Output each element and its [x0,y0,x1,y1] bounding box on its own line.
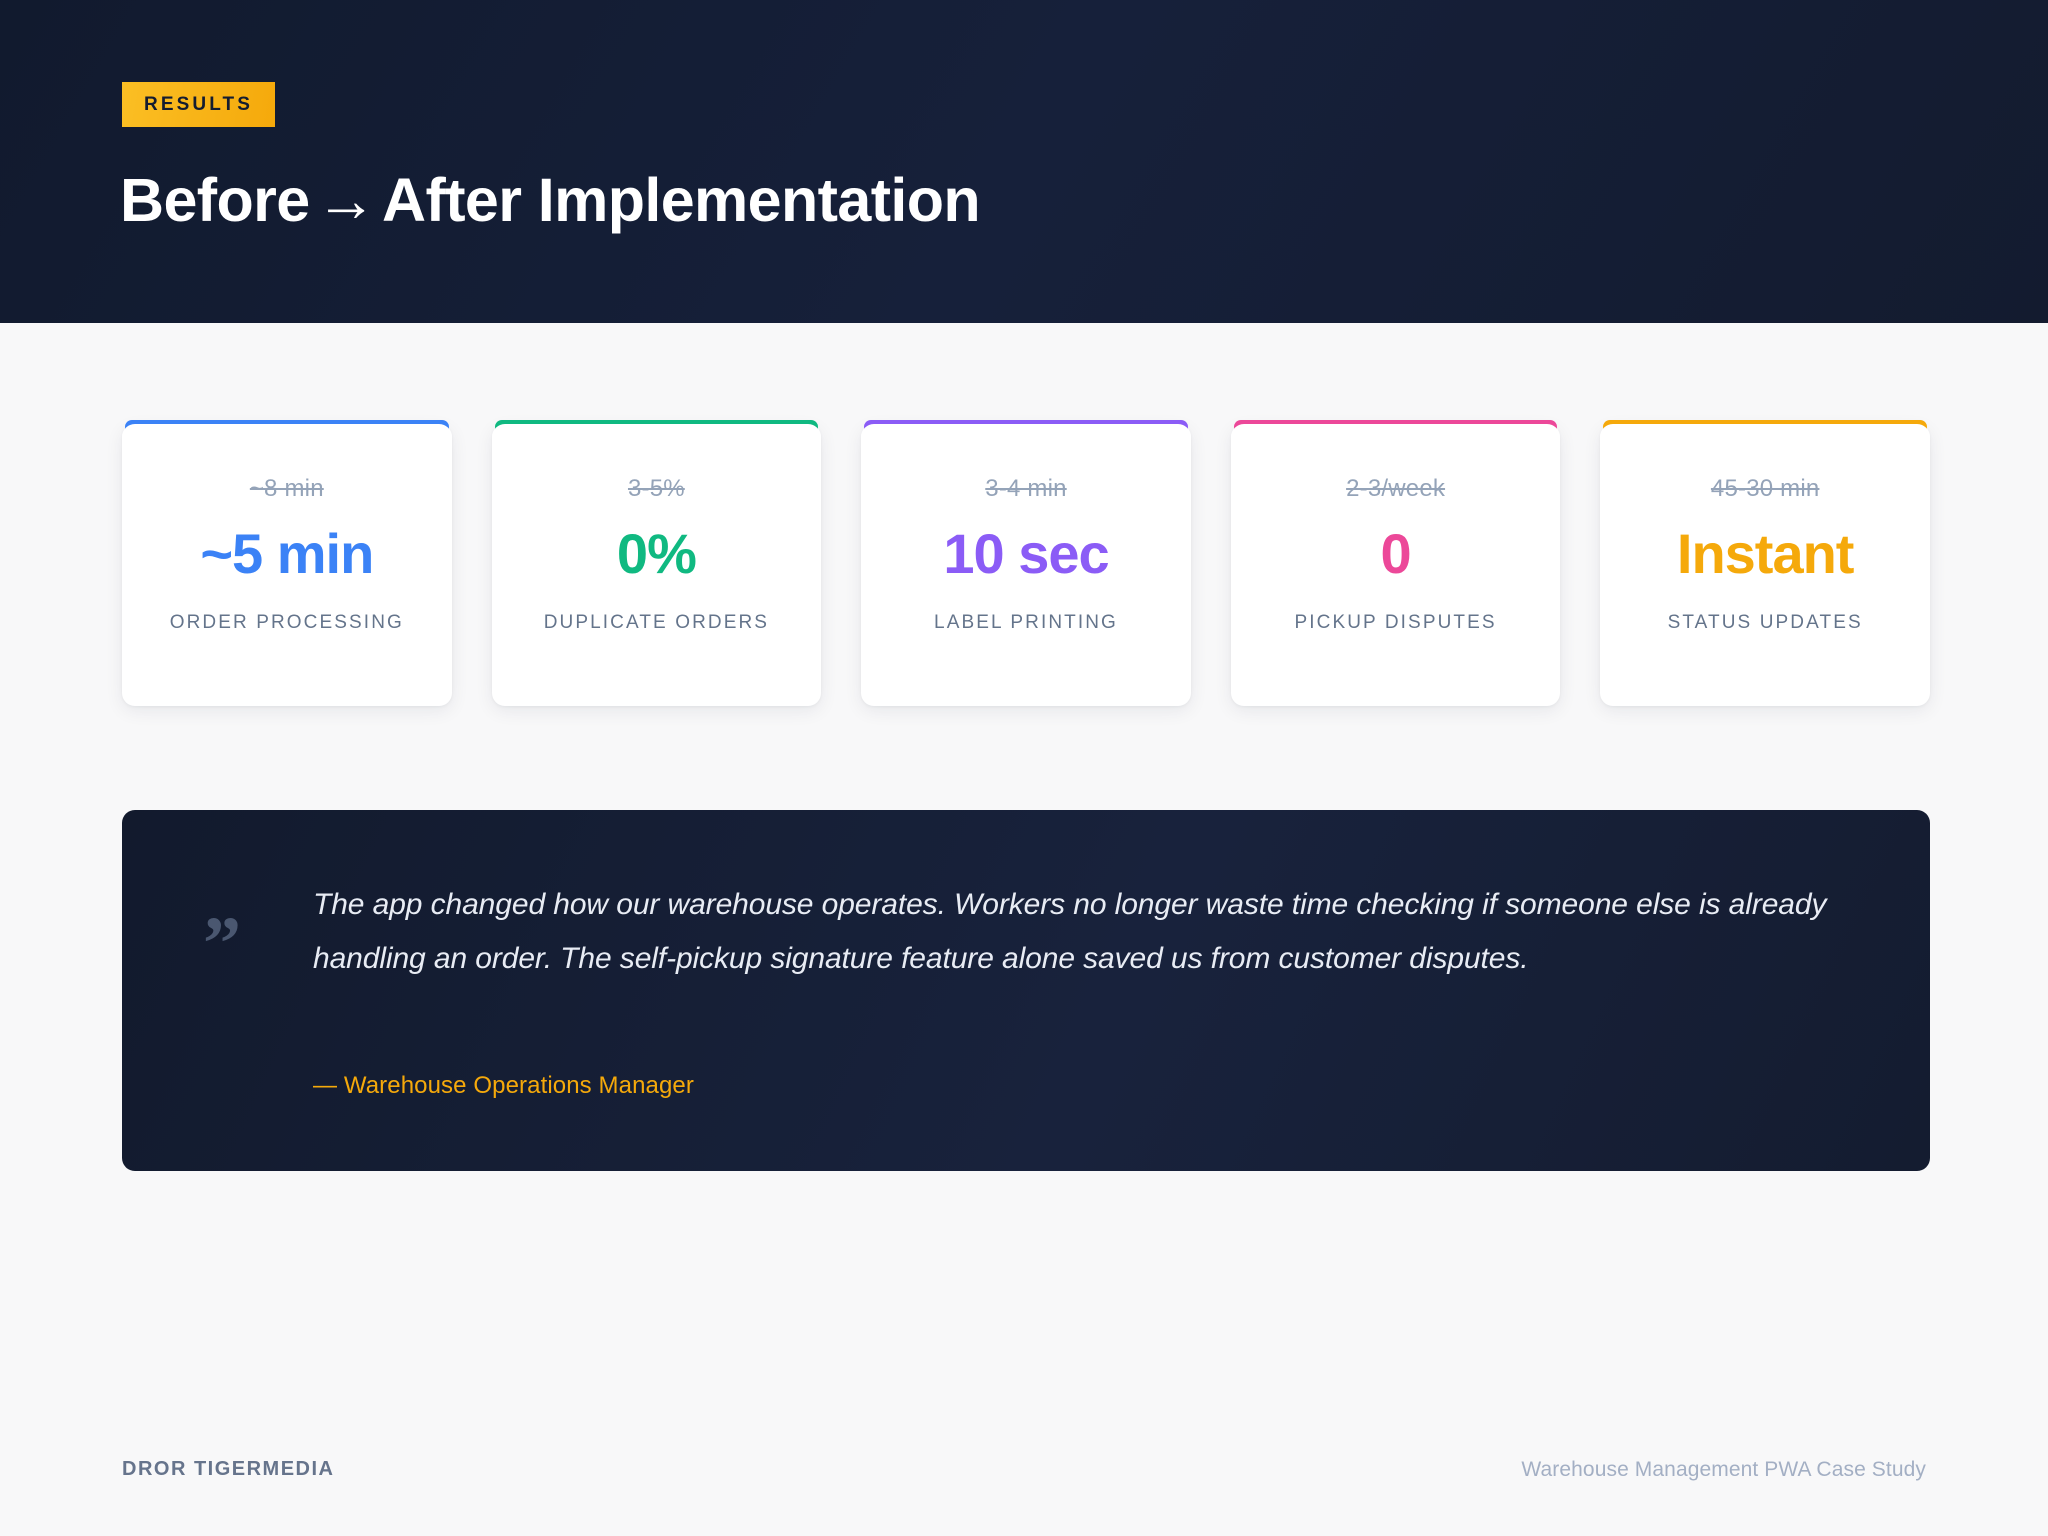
metric-before-value: ~8 min [250,477,324,501]
page-title-after: After Implementation [382,166,980,234]
results-badge: RESULTS [122,82,275,127]
metric-label: LABEL PRINTING [934,612,1118,634]
card-body: ~8 min ~5 min ORDER PROCESSING [122,424,452,634]
metric-after-value: 0% [617,525,696,584]
testimonial-panel [122,810,1930,1171]
metric-label: ORDER PROCESSING [170,612,404,634]
metric-card-list: ~8 min ~5 min ORDER PROCESSING 3-5% 0% D… [122,424,1930,706]
metric-after-value: ~5 min [200,525,373,584]
metric-before-value: 3-5% [628,477,685,501]
metric-label: DUPLICATE ORDERS [544,612,769,634]
testimonial-author: — Warehouse Operations Manager [313,1072,694,1100]
metric-card[interactable]: ~8 min ~5 min ORDER PROCESSING [122,424,452,706]
quote-mark-icon: ” [203,922,241,968]
metric-card[interactable]: 45-30 min Instant STATUS UPDATES [1600,424,1930,706]
metric-before-value: 2-3/week [1346,477,1445,501]
testimonial-text: The app changed how our warehouse operat… [313,878,1853,986]
metric-before-value: 3-4 min [985,477,1066,501]
metric-label: PICKUP DISPUTES [1294,612,1496,634]
footer-brand: DROR TIGERMEDIA [122,1458,335,1481]
metric-before-value: 45-30 min [1711,477,1820,501]
metric-card[interactable]: 2-3/week 0 PICKUP DISPUTES [1231,424,1561,706]
metric-after-value: 10 sec [943,525,1108,584]
page-title-before: Before [120,166,310,234]
card-body: 45-30 min Instant STATUS UPDATES [1600,424,1930,634]
card-body: 3-4 min 10 sec LABEL PRINTING [861,424,1191,634]
metric-after-value: Instant [1677,525,1854,584]
footer-caption: Warehouse Management PWA Case Study [1521,1458,1926,1482]
metric-card[interactable]: 3-4 min 10 sec LABEL PRINTING [861,424,1191,706]
metric-card[interactable]: 3-5% 0% DUPLICATE ORDERS [492,424,822,706]
header-band: RESULTS Before→After Implementation [0,0,2048,323]
arrow-icon: → [310,166,382,234]
metric-label: STATUS UPDATES [1668,612,1863,634]
metric-after-value: 0 [1381,525,1411,584]
card-body: 2-3/week 0 PICKUP DISPUTES [1231,424,1561,634]
card-body: 3-5% 0% DUPLICATE ORDERS [492,424,822,634]
page-title: Before→After Implementation [120,165,980,235]
